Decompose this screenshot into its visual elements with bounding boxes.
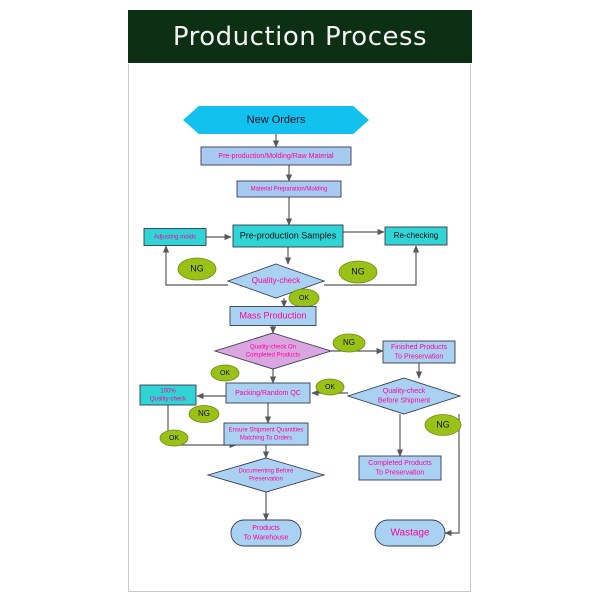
flowchart-svg: New OrdersPre-production/Molding/Raw Mat… (129, 64, 470, 590)
node-pre-production-raw[interactable]: Pre-production/Molding/Raw Material (201, 147, 351, 165)
node-ng-3[interactable]: NG (333, 334, 365, 352)
node-ok-4[interactable]: OK (160, 430, 188, 446)
label-products-to-warehouse: To Warehouse (244, 534, 289, 541)
label-ng-4: NG (198, 409, 210, 418)
label-ensure-shipment: Matching To Orders (240, 436, 292, 442)
node-layer: New OrdersPre-production/Molding/Raw Mat… (140, 106, 461, 546)
label-products-to-warehouse: Products (252, 525, 280, 532)
label-ok-2: OK (220, 370, 230, 377)
label-re-checking: Re-checking (394, 231, 438, 240)
flowchart-canvas: New OrdersPre-production/Molding/Raw Mat… (128, 64, 471, 592)
node-ng-4[interactable]: NG (189, 406, 219, 423)
label-ok-1: OK (299, 295, 309, 302)
node-completed-products[interactable]: Completed ProductsTo Preservation (359, 456, 441, 480)
node-new-orders[interactable]: New Orders (183, 106, 369, 134)
label-quality-check-shipment: Quality-check (383, 388, 426, 395)
label-quality-check-1: Quality-check (252, 276, 301, 285)
label-finished-products: To Preservation (395, 353, 444, 360)
node-material-preparation[interactable]: Material Preparation/Molding (237, 181, 341, 197)
shape-products-to-warehouse (231, 520, 301, 546)
label-quality-check-shipment: Before Shipment (378, 397, 430, 404)
label-pre-production-samples: Pre-production Samples (240, 230, 337, 240)
node-finished-products[interactable]: Finished ProductsTo Preservation (383, 341, 455, 363)
label-ng-1: NG (190, 263, 204, 273)
label-ng-3: NG (343, 338, 355, 347)
node-re-checking[interactable]: Re-checking (385, 227, 447, 245)
node-ng-2[interactable]: NG (339, 261, 377, 283)
node-ng-1[interactable]: NG (178, 258, 216, 280)
header-banner: Production Process (128, 10, 472, 63)
label-completed-products: To Preservation (376, 469, 425, 476)
node-quality-check-shipment[interactable]: Quality-checkBefore Shipment (348, 378, 460, 414)
label-documenting-before: Documenting Before (239, 468, 294, 474)
label-mass-production: Mass Production (239, 310, 306, 320)
label-ok-4: OK (169, 435, 179, 442)
node-mass-production[interactable]: Mass Production (230, 307, 316, 326)
node-ok-2[interactable]: OK (211, 365, 239, 381)
page-title: Production Process (173, 22, 427, 52)
label-adjusting-molds: Adjusting molds (154, 235, 196, 241)
node-hundred-quality-check[interactable]: 100%Quality-check (140, 385, 196, 405)
label-completed-products: Completed Products (368, 460, 432, 467)
label-hundred-quality-check: Quality-check (150, 397, 187, 403)
node-adjusting-molds[interactable]: Adjusting molds (144, 229, 206, 246)
node-documenting-before[interactable]: Documenting BeforePreservation (208, 458, 324, 492)
label-ensure-shipment: Ensure Shipment Quantities (229, 427, 304, 433)
node-wastage[interactable]: Wastage (375, 520, 445, 546)
label-quality-check-completed: Completed Products (246, 353, 300, 359)
node-ng-5[interactable]: NG (425, 415, 461, 436)
shape-ensure-shipment (224, 423, 308, 445)
label-ng-5: NG (436, 419, 450, 429)
label-finished-products: Finished Products (391, 344, 448, 351)
label-new-orders: New Orders (247, 114, 306, 126)
label-material-preparation: Material Preparation/Molding (251, 187, 328, 193)
label-ok-3: OK (325, 384, 335, 391)
label-wastage: Wastage (390, 528, 430, 539)
label-ng-2: NG (351, 266, 365, 276)
node-ok-1[interactable]: OK (289, 289, 319, 307)
node-ok-3[interactable]: OK (316, 379, 344, 395)
label-pre-production-raw: Pre-production/Molding/Raw Material (218, 153, 334, 160)
shape-quality-check-completed (215, 333, 331, 369)
node-quality-check-completed[interactable]: Quality-check OnCompleted Products (215, 333, 331, 369)
node-pre-production-samples[interactable]: Pre-production Samples (233, 225, 343, 247)
flowchart-page: Production Process New OrdersPre-product… (0, 0, 600, 600)
label-packing-random-qc: Packing/Random QC (235, 390, 301, 397)
shape-documenting-before (208, 458, 324, 492)
node-packing-random-qc[interactable]: Packing/Random QC (226, 383, 310, 403)
node-products-to-warehouse[interactable]: ProductsTo Warehouse (231, 520, 301, 546)
label-documenting-before: Preservation (249, 477, 283, 483)
node-ensure-shipment[interactable]: Ensure Shipment QuantitiesMatching To Or… (224, 423, 308, 445)
shape-quality-check-shipment (348, 378, 460, 414)
label-hundred-quality-check: 100% (160, 388, 176, 394)
label-quality-check-completed: Quality-check On (250, 344, 296, 350)
